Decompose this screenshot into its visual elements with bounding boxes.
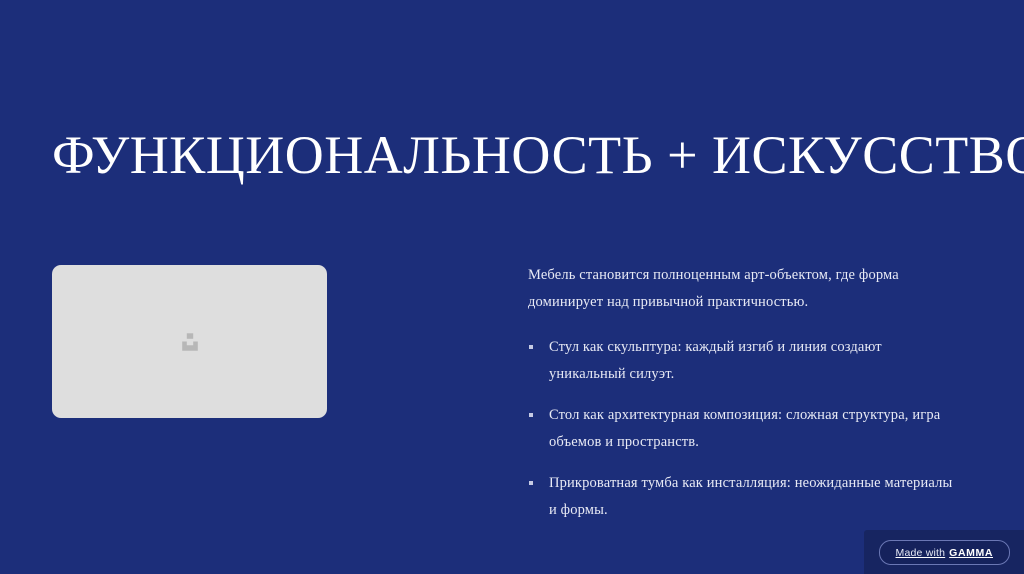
bullet-marker-icon xyxy=(529,413,533,417)
made-with-gamma-badge[interactable]: Made with GAMMA xyxy=(879,540,1010,565)
broken-image-icon xyxy=(179,331,201,353)
bullet-marker-icon xyxy=(529,345,533,349)
list-item: Прикроватная тумба как инсталляция: неож… xyxy=(528,470,953,524)
slide-content: Мебель становится полноценным арт-объект… xyxy=(0,250,1024,510)
bullet-list: Стул как скульптура: каждый изгиб и лини… xyxy=(528,334,953,524)
list-item: Стул как скульптура: каждый изгиб и лини… xyxy=(528,334,953,388)
page-title: ФУНКЦИОНАЛЬНОСТЬ + ИСКУССТВО xyxy=(52,124,982,186)
badge-brand-label: GAMMA xyxy=(949,547,993,559)
slide: ФУНКЦИОНАЛЬНОСТЬ + ИСКУССТВО Мебель стан… xyxy=(0,0,1024,574)
list-item-label: Стул как скульптура: каждый изгиб и лини… xyxy=(549,339,882,382)
badge-prefix-label: Made with xyxy=(896,547,946,559)
lead-paragraph: Мебель становится полноценным арт-объект… xyxy=(528,262,953,316)
image-placeholder[interactable] xyxy=(52,265,327,418)
bullet-marker-icon xyxy=(529,481,533,485)
list-item-label: Прикроватная тумба как инсталляция: неож… xyxy=(549,475,952,518)
text-column: Мебель становится полноценным арт-объект… xyxy=(528,262,953,524)
list-item: Стол как архитектурная композиция: сложн… xyxy=(528,402,953,456)
list-item-label: Стол как архитектурная композиция: сложн… xyxy=(549,407,940,450)
